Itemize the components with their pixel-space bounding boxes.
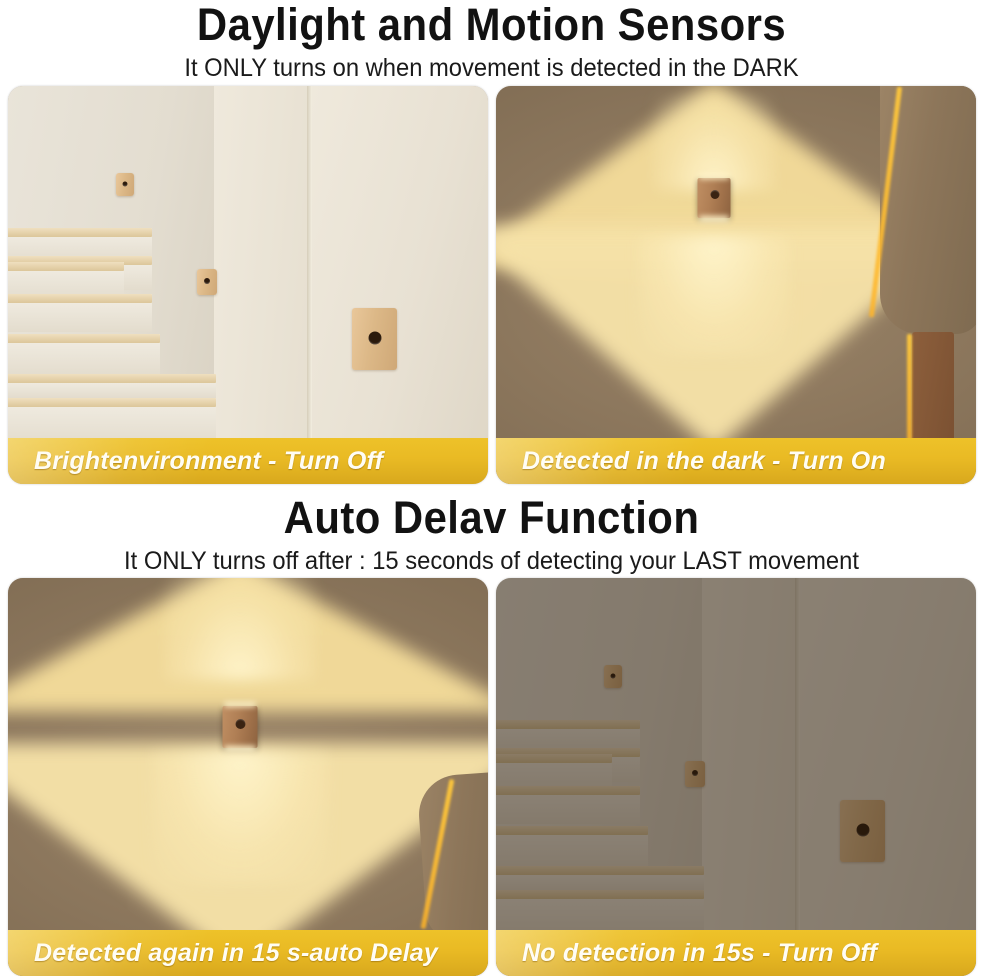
page-subtitle-secondary: It ONLY turns off after : 15 seconds of … bbox=[25, 549, 959, 574]
stair-sensor-middle bbox=[197, 269, 217, 295]
panel-caption-text: Detected in the dark - Turn On bbox=[522, 447, 886, 476]
motion-sensor-lens-icon bbox=[204, 278, 210, 284]
wall-lamp-device bbox=[223, 706, 258, 748]
section-heading-auto-delay: Auto Delav Function It ONLY turns off af… bbox=[0, 495, 983, 574]
scene-lamp-on-wide bbox=[8, 578, 488, 976]
panel-caption-text: No detection in 15s - Turn Off bbox=[522, 939, 877, 968]
panel-caption-bar: Brightenvironment - Turn Off bbox=[8, 438, 488, 484]
panel-caption-bar: Detected in the dark - Turn On bbox=[496, 438, 976, 484]
page-subtitle: It ONLY turns on when movement is detect… bbox=[25, 56, 959, 81]
scene-staircase-night bbox=[496, 578, 976, 976]
panel-detected-again[interactable]: Detected again in 15 s-auto Delay bbox=[8, 578, 488, 976]
page-title: Daylight and Motion Sensors bbox=[34, 2, 948, 47]
scene-lamp-on-dark bbox=[496, 86, 976, 484]
person-leg bbox=[912, 332, 954, 444]
pir-sensor-icon bbox=[236, 719, 246, 729]
panel-caption-text: Brightenvironment - Turn Off bbox=[34, 447, 383, 476]
motion-sensor-lens-icon bbox=[368, 331, 381, 344]
stair-sensor-upper bbox=[116, 173, 134, 196]
leg-light-rim bbox=[907, 334, 912, 444]
wall-night-light-off bbox=[352, 308, 397, 370]
page-title-secondary: Auto Delav Function bbox=[34, 495, 948, 540]
panel-caption-text: Detected again in 15 s-auto Delay bbox=[34, 939, 438, 968]
panel-bright-environment[interactable]: Brightenvironment - Turn Off bbox=[8, 86, 488, 484]
panel-detected-in-dark[interactable]: Detected in the dark - Turn On bbox=[496, 86, 976, 484]
night-darkness-overlay bbox=[496, 578, 976, 976]
wall-lamp-device bbox=[698, 178, 731, 218]
section-heading-daylight: Daylight and Motion Sensors It ONLY turn… bbox=[0, 2, 983, 81]
panel-caption-bar: No detection in 15s - Turn Off bbox=[496, 930, 976, 976]
scene-staircase-daylight bbox=[8, 86, 488, 484]
motion-sensor-lens-icon bbox=[123, 182, 128, 187]
pir-sensor-icon bbox=[710, 190, 719, 199]
panel-no-detection[interactable]: No detection in 15s - Turn Off bbox=[496, 578, 976, 976]
panel-caption-bar: Detected again in 15 s-auto Delay bbox=[8, 930, 488, 976]
